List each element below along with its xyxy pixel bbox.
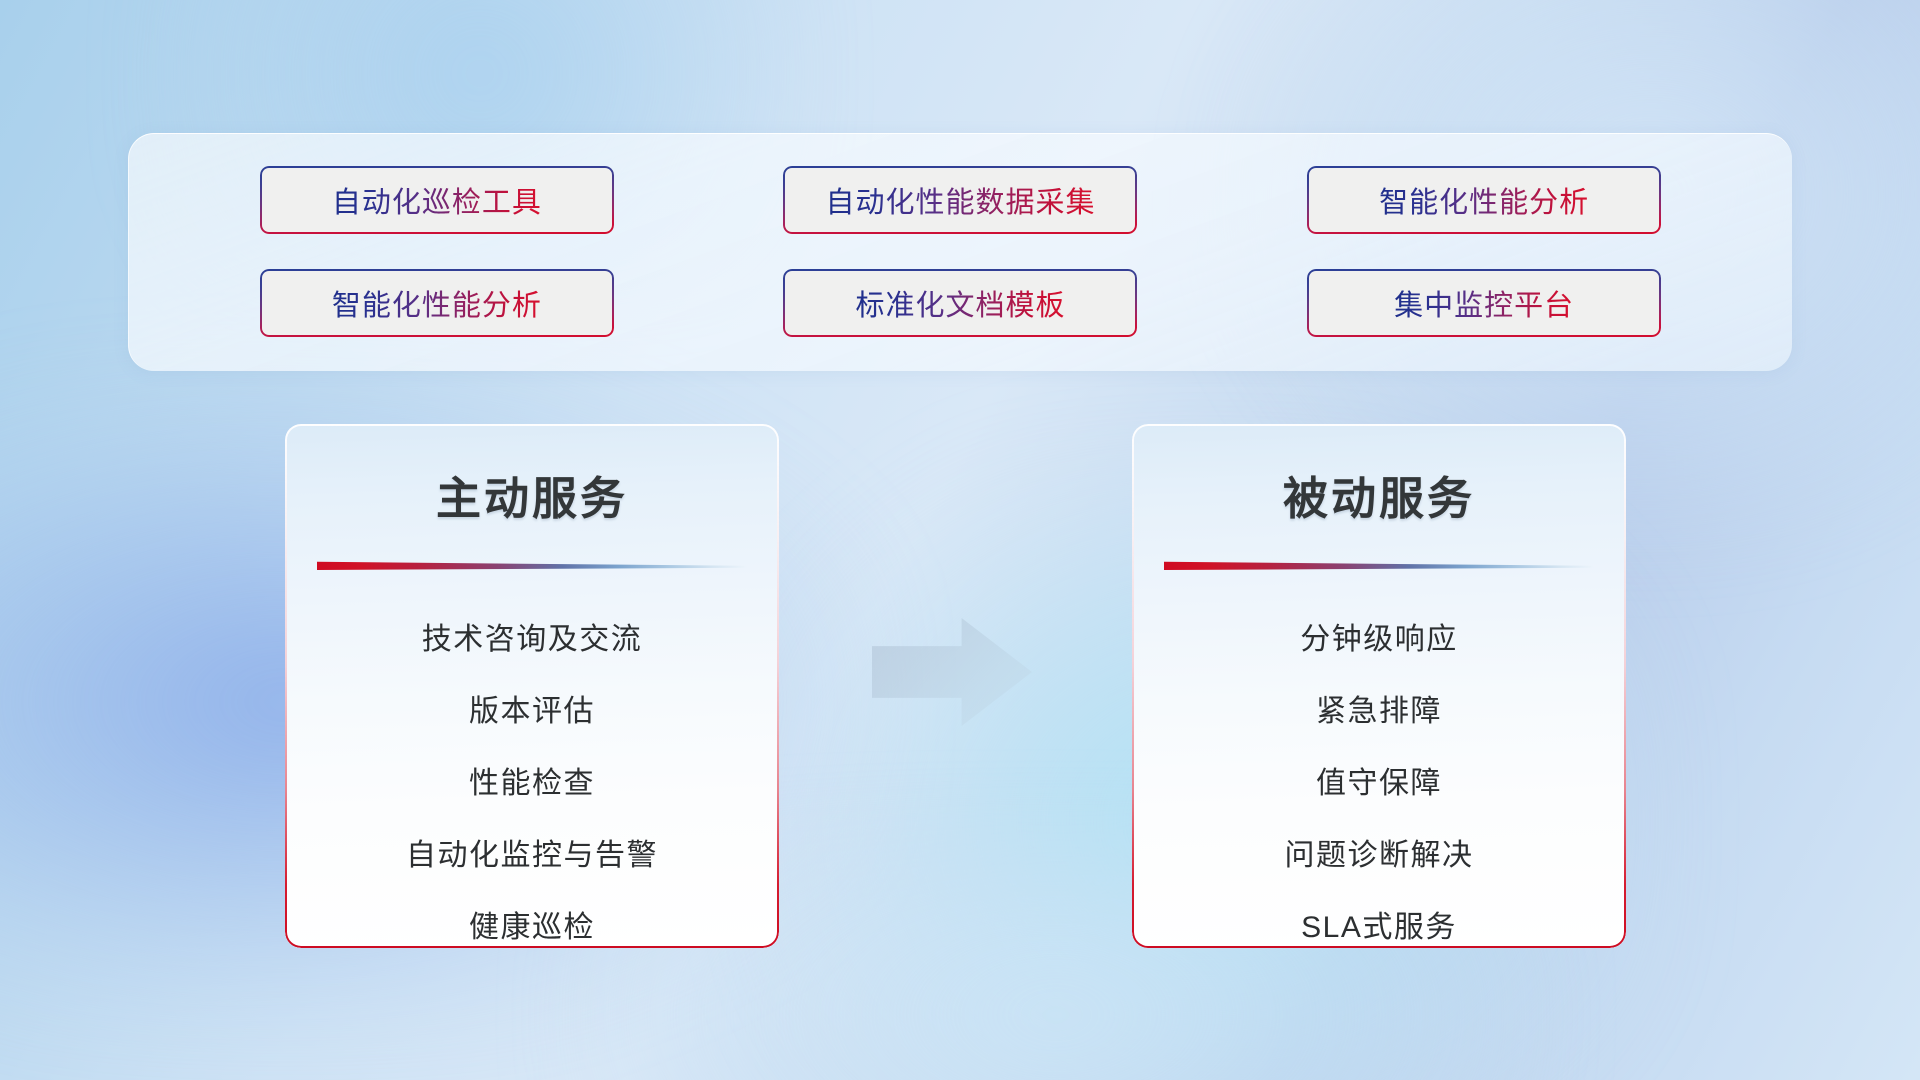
capability-tag-label: 智能化性能分析 [332,282,542,324]
capability-tag-5[interactable]: 标准化文档模板 [783,269,1137,337]
capability-tag-label: 标准化文档模板 [855,282,1065,324]
list-item: 版本评估 [285,676,779,748]
card-item-list: 分钟级响应 紧急排障 值守保障 问题诊断解决 SLA式服务 [1132,604,1626,948]
card-divider [1164,560,1594,570]
list-item: 技术咨询及交流 [285,604,779,676]
capability-tags-panel: 自动化巡检工具 自动化性能数据采集 智能化性能分析 智能化性能分析 标准化文档模… [128,133,1792,371]
capability-tag-label: 自动化巡检工具 [332,179,542,221]
list-item: 自动化监控与告警 [285,820,779,892]
capability-tag-2[interactable]: 自动化性能数据采集 [783,166,1137,234]
service-card-active: 主动服务 技术咨询及交流 版本评估 性能检查 自动化监控与告警 健康巡检 [285,424,779,948]
list-item: 值守保障 [1132,748,1626,820]
list-item: SLA式服务 [1132,892,1626,948]
card-divider [317,560,747,570]
service-card-passive: 被动服务 分钟级响应 紧急排障 值守保障 问题诊断解决 SLA式服务 [1132,424,1626,948]
list-item: 健康巡检 [285,892,779,948]
capability-tag-label: 智能化性能分析 [1379,179,1589,221]
capability-tag-3[interactable]: 智能化性能分析 [1307,166,1661,234]
card-title: 被动服务 [1132,462,1626,527]
capability-tag-label: 集中监控平台 [1394,282,1574,324]
capability-tag-label: 自动化性能数据采集 [825,179,1095,221]
capability-tag-grid: 自动化巡检工具 自动化性能数据采集 智能化性能分析 智能化性能分析 标准化文档模… [129,134,1792,371]
list-item: 问题诊断解决 [1132,820,1626,892]
list-item: 分钟级响应 [1132,604,1626,676]
capability-tag-4[interactable]: 智能化性能分析 [260,269,614,337]
card-item-list: 技术咨询及交流 版本评估 性能检查 自动化监控与告警 健康巡检 [285,604,779,948]
capability-tag-6[interactable]: 集中监控平台 [1307,269,1661,337]
capability-tag-1[interactable]: 自动化巡检工具 [260,166,614,234]
card-title: 主动服务 [285,462,779,527]
list-item: 性能检查 [285,748,779,820]
list-item: 紧急排障 [1132,676,1626,748]
